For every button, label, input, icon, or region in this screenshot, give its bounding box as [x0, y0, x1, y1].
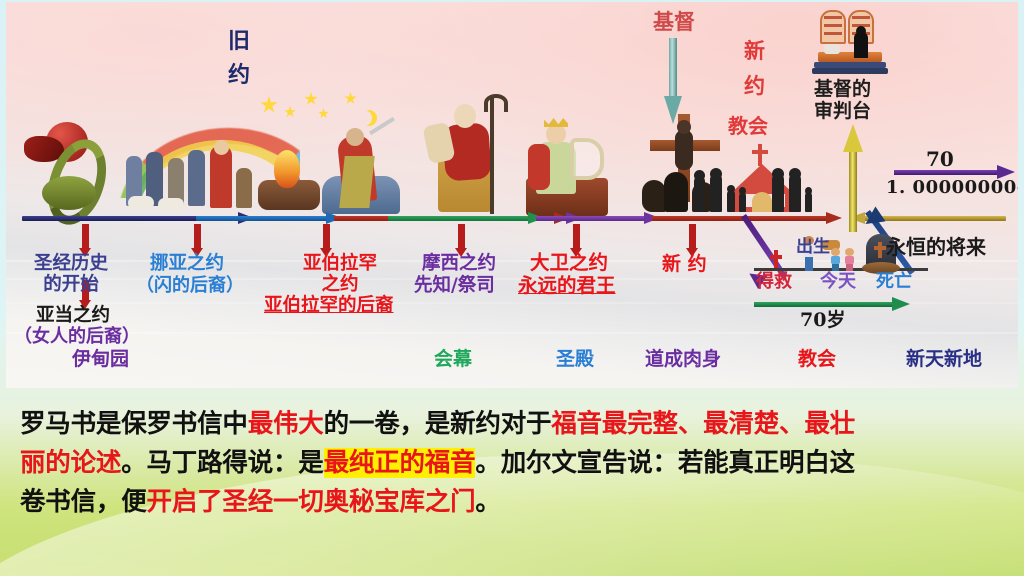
body-text-block: 罗马书是保罗书信中最伟大的一卷，是新约对于福音最完整、最清楚、最壮 丽的论述。马… [20, 408, 1010, 525]
seg-2-3: 。加尔文宣告说：若能真正明白这 [475, 448, 855, 478]
body-line-1: 罗马书是保罗书信中最伟大的一卷，是新约对于福音最完整、最清楚、最壮 [20, 408, 1010, 442]
label-old-testament: 旧约 [228, 24, 250, 92]
seg-1-3: 福音最完整、最清楚、最壮 [551, 409, 855, 439]
bottom-label-temple: 圣殿 [556, 349, 594, 370]
label-moses-covenant: 摩西之约 [422, 254, 496, 275]
label-prophet-priest: 先知/祭司 [414, 276, 495, 297]
seg-1-2: 的一卷，是新约对于 [324, 409, 552, 439]
art-abraham [322, 126, 400, 214]
label-david-covenant: 大卫之约 [530, 252, 608, 274]
seg-1-1: 最伟大 [248, 409, 324, 439]
bottom-label-tabernacle: 会幕 [434, 349, 472, 370]
label-decimal-expansion: 1. 00000000---- [886, 178, 1018, 198]
label-death: 死亡 [876, 272, 912, 292]
bottom-label-new-heaven-earth: 新天新地 [906, 349, 982, 370]
seg-2-2: 最纯正的福音 [324, 448, 476, 478]
label-lifespan: 70岁 [800, 310, 845, 331]
timeline-segment-blue-noah [196, 216, 328, 221]
art-judgment-seat-icon [812, 10, 888, 76]
label-abraham-covenant: 亚伯拉罕之约 [281, 254, 399, 295]
label-adam-covenant: 亚当之约 [36, 306, 110, 327]
label-church-top: 教会 [728, 115, 768, 137]
seg-2-1: 。马丁路得说：是 [121, 448, 323, 478]
label-seventy: 70 [926, 148, 954, 170]
art-altar-fire [258, 150, 320, 212]
arrow-lifespan [754, 302, 894, 307]
label-abraham-seed: 亚伯拉罕的后裔 [264, 296, 394, 317]
bottom-label-eden: 伊甸园 [72, 349, 129, 370]
label-bible-history-start: 圣经历史的开始 [34, 254, 108, 295]
art-apple-serpent [24, 120, 110, 212]
label-judgment-seat: 基督的审判台 [814, 78, 871, 123]
label-eternal-future: 永恒的将来 [886, 236, 986, 258]
seg-3-2: 。 [475, 487, 500, 517]
label-birth: 出生 [796, 238, 830, 257]
seg-3-1: 开启了圣经一切奥秘宝库之门 [147, 487, 476, 517]
seg-3-0: 卷书信，便 [20, 487, 147, 517]
label-noah-covenant-sub: （闪的后裔） [136, 276, 244, 296]
label-eternal-king: 永远的君王 [518, 275, 616, 297]
label-new-covenant: 新 约 [662, 254, 707, 275]
art-stars [260, 88, 382, 130]
timeline-segment-green [388, 216, 530, 221]
slide-root: 旧约 基督 新约 教会 基督的审判台 [0, 0, 1024, 576]
label-today: 今天 [820, 272, 856, 292]
label-noah-covenant: 挪亚之约 [150, 254, 224, 275]
label-adam-covenant-sub: （女人的后裔） [14, 327, 140, 347]
timeline-segment-david [536, 216, 646, 221]
label-christ: 基督 [653, 10, 695, 34]
seg-2-0: 丽的论述 [20, 448, 121, 478]
timeline-image-panel: 旧约 基督 新约 教会 基督的审判台 [6, 2, 1018, 388]
life-diagram: 出生 得救 今天 死亡 70岁 [748, 214, 938, 326]
bottom-label-church: 教会 [798, 349, 836, 370]
art-david-king [526, 120, 608, 216]
art-moses [426, 98, 512, 214]
body-line-3: 卷书信，便开启了圣经一切奥秘宝库之门。 [20, 486, 1010, 520]
seg-1-0: 罗马书是保罗书信中 [20, 409, 248, 439]
art-family-silhouettes [694, 174, 816, 214]
label-new-testament-top: 新约 [744, 34, 765, 103]
body-line-2: 丽的论述。马丁路得说：是最纯正的福音。加尔文宣告说：若能真正明白这 [20, 447, 1010, 481]
label-saved: 得救 [756, 272, 792, 292]
bottom-label-incarnation: 道成肉身 [645, 349, 721, 370]
